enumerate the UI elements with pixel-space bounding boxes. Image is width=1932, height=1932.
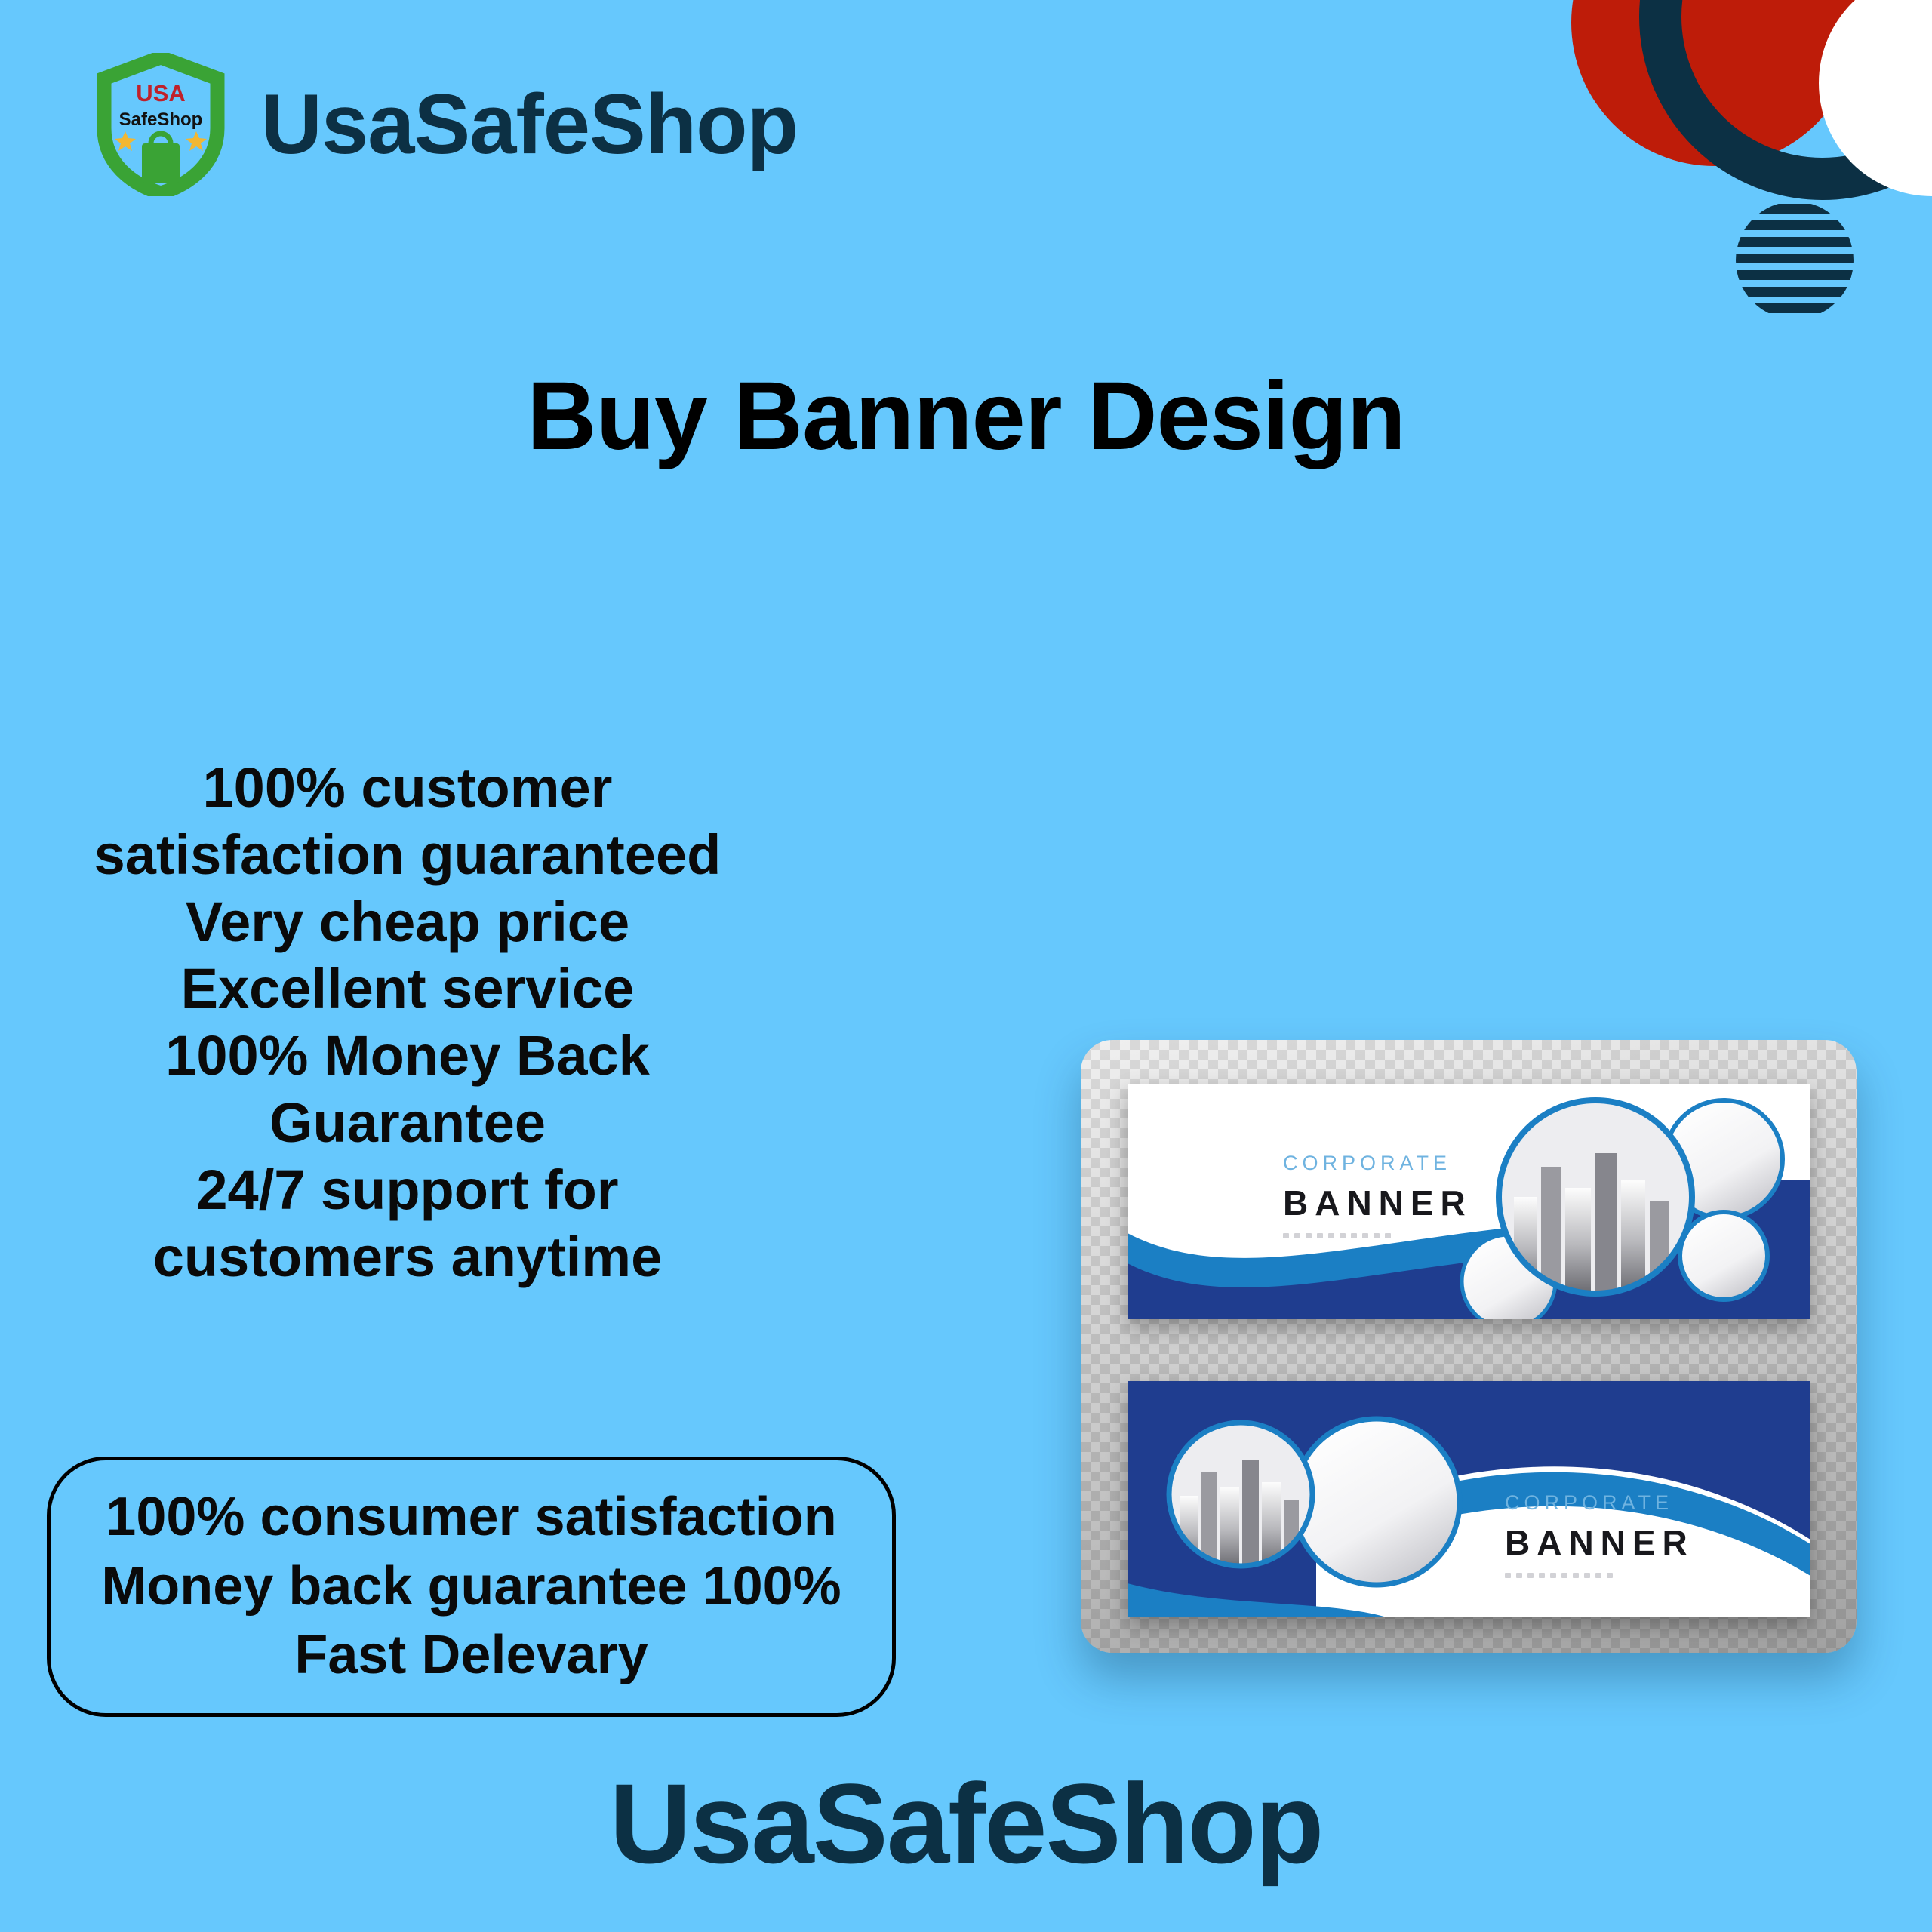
brand-header: USA SafeShop UsaSafeShop	[97, 53, 798, 196]
striped-circle-decor	[1733, 204, 1857, 330]
feature-list-item: satisfaction guaranteed	[83, 822, 732, 889]
guarantee-line: Fast Delevary	[294, 1623, 648, 1689]
guarantee-line: Money back guarantee 100%	[101, 1554, 841, 1620]
brand-name: UsaSafeShop	[261, 82, 798, 167]
banner-corporate-label: CORPORATE	[1505, 1493, 1694, 1513]
feature-list-item: Guarantee	[83, 1090, 732, 1157]
svg-text:SafeShop: SafeShop	[119, 109, 203, 130]
banner-sample-bottom: CORPORATE BANNER	[1128, 1381, 1810, 1617]
feature-list-item: Very cheap price	[83, 889, 732, 956]
banner-banner-label: BANNER	[1283, 1186, 1472, 1220]
page-title: Buy Banner Design	[0, 361, 1932, 472]
shield-usa-safeshop-logo-icon: USA SafeShop	[97, 53, 225, 196]
feature-list: 100% customer satisfaction guaranteed Ve…	[83, 755, 732, 1291]
banner-corporate-label: CORPORATE	[1283, 1153, 1472, 1174]
navy-ring-decor	[1660, 0, 1932, 179]
banner-sample-top: CORPORATE BANNER	[1128, 1084, 1810, 1319]
guarantee-box: 100% consumer satisfaction Money back gu…	[47, 1457, 896, 1717]
banner-bottom-text-group: CORPORATE BANNER	[1505, 1493, 1694, 1578]
banner-top-text-group: CORPORATE BANNER	[1283, 1153, 1472, 1238]
decorative-corner-shapes	[1509, 0, 1932, 355]
footer-wordmark: UsaSafeShop	[0, 1758, 1932, 1889]
feature-list-item: Excellent service	[83, 955, 732, 1023]
feature-list-item: customers anytime	[83, 1224, 732, 1291]
banner-placeholder-text	[1283, 1233, 1472, 1238]
white-circle-decor	[1819, 0, 1932, 196]
banner-placeholder-text	[1505, 1573, 1694, 1578]
banner-banner-label: BANNER	[1505, 1525, 1694, 1560]
svg-text:USA: USA	[136, 80, 185, 106]
feature-list-item: 100% Money Back	[83, 1023, 732, 1090]
feature-list-item: 100% customer	[83, 755, 732, 822]
feature-list-item: 24/7 support for	[83, 1157, 732, 1224]
guarantee-line: 100% consumer satisfaction	[106, 1484, 836, 1551]
red-circle-decor	[1571, 0, 1858, 166]
banner-mockup-image: CORPORATE BANNER	[1081, 1040, 1857, 1653]
